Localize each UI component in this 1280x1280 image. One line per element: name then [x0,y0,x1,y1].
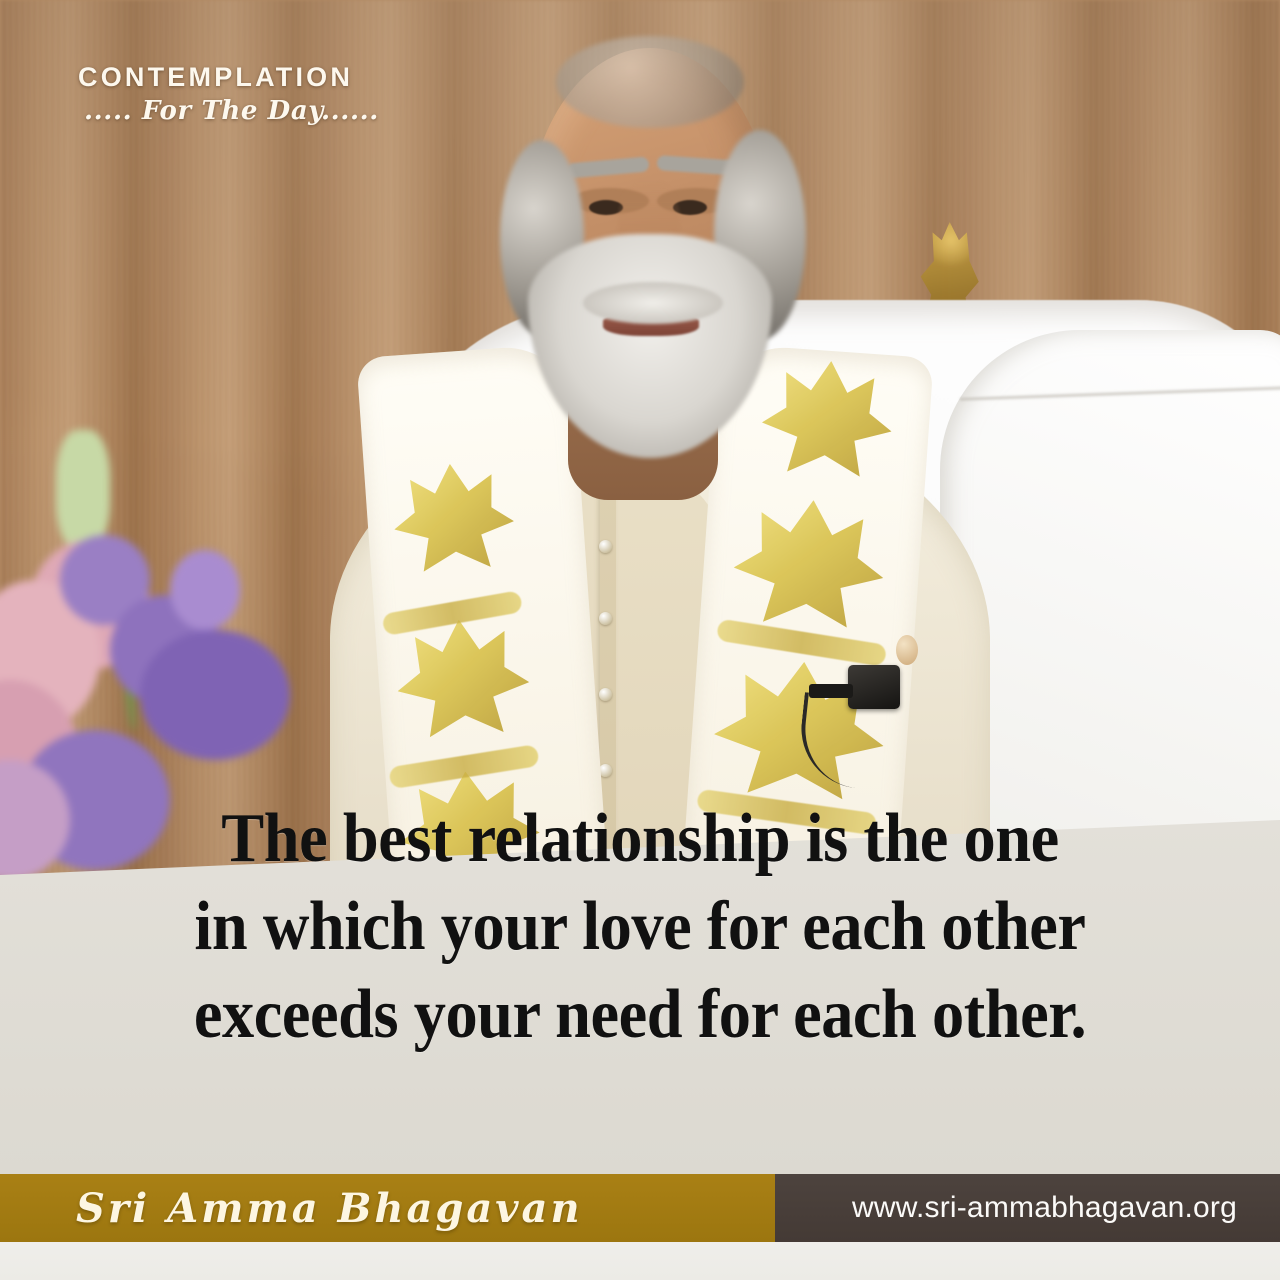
kurta-button [599,612,612,625]
eyebrow-left [567,156,650,178]
mustache [583,282,723,324]
footer-dark-band[interactable]: www.sri-ammabhagavan.org [775,1174,1280,1242]
kurta-button [599,540,612,553]
header-subtitle: ..... For The Day...... [84,96,379,126]
footer-brand: Sri Amma Bhagavan [76,1185,583,1232]
footer-url[interactable]: www.sri-ammabhagavan.org [852,1191,1237,1225]
quote-line-2: in which your love for each other [82,883,1197,971]
quote-line-1: The best relationship is the one [82,795,1197,883]
hair-crown [556,36,744,128]
footer-bar: Sri Amma Bhagavan www.sri-ammabhagavan.o… [0,1174,1280,1242]
header-block: CONTEMPLATION ..... For The Day...... [78,62,379,126]
header-title: CONTEMPLATION [78,62,379,92]
quote-text: The best relationship is the one in whic… [51,795,1229,1059]
subject-person [300,20,1000,880]
footer-bottom-strip [0,1242,1280,1280]
kurta-button [599,688,612,701]
quote-card: The best relationship is the one in whic… [0,0,1280,1280]
footer-gold-band: Sri Amma Bhagavan [0,1174,775,1242]
quote-line-3: exceeds your need for each other. [82,971,1197,1059]
mic-bead [896,635,918,665]
